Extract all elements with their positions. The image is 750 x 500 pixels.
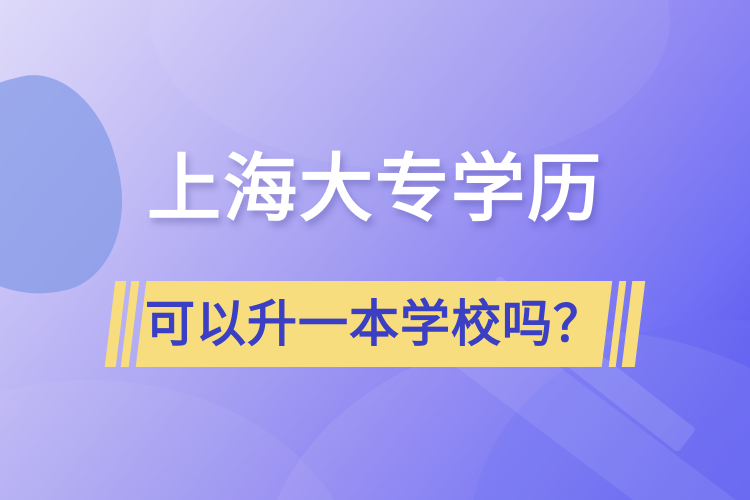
bottom-left-curve-shape (0, 380, 360, 500)
accent-bar-right-outer (622, 281, 646, 367)
top-glow-shape (150, 0, 670, 170)
background-decoration-layer (0, 0, 750, 500)
ribbon-subtitle: 可以升一本学校吗？ (145, 299, 604, 349)
ribbon-plate: 可以升一本学校吗？ (136, 281, 613, 367)
page-title: 上海大专学历 (0, 152, 750, 226)
promo-banner: 上海大专学历 可以升一本学校吗？ (0, 0, 750, 500)
ribbon-banner: 可以升一本学校吗？ (0, 281, 750, 371)
